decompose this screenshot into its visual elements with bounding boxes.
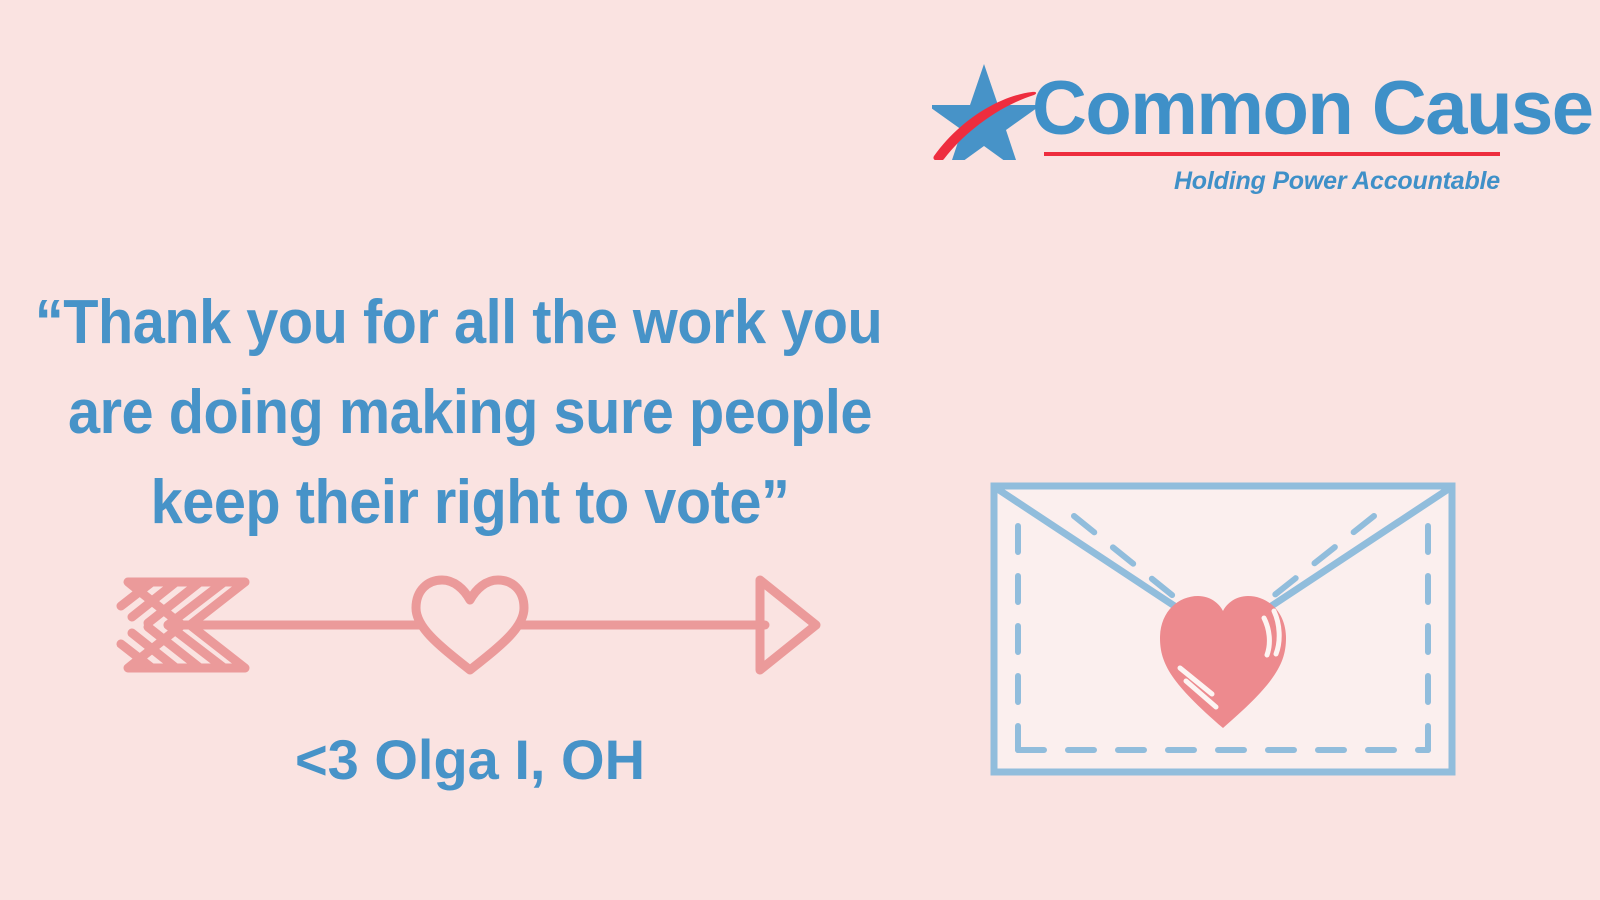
attribution-text: <3 Olga I, OH: [20, 724, 920, 796]
common-cause-star-logo-icon: [932, 60, 1036, 160]
envelope-with-heart-icon: [986, 478, 1460, 780]
logo-wordmark: Common Cause: [1032, 66, 1500, 152]
heart-arrow-icon: [110, 570, 830, 680]
logo-tagline: Holding Power Accountable: [932, 164, 1500, 198]
quote-line-3: keep their right to vote”: [52, 458, 889, 548]
quote-line-2: are doing making sure people: [52, 368, 889, 458]
common-cause-logo: Common Cause Holding Power Accountable: [932, 52, 1500, 207]
poster-canvas: Common Cause Holding Power Accountable “…: [0, 0, 1600, 900]
testimonial-quote: “Thank you for all the work you are doin…: [20, 278, 920, 548]
logo-divider-rule: [1044, 152, 1500, 156]
quote-line-1: “Thank you for all the work you: [20, 278, 857, 368]
